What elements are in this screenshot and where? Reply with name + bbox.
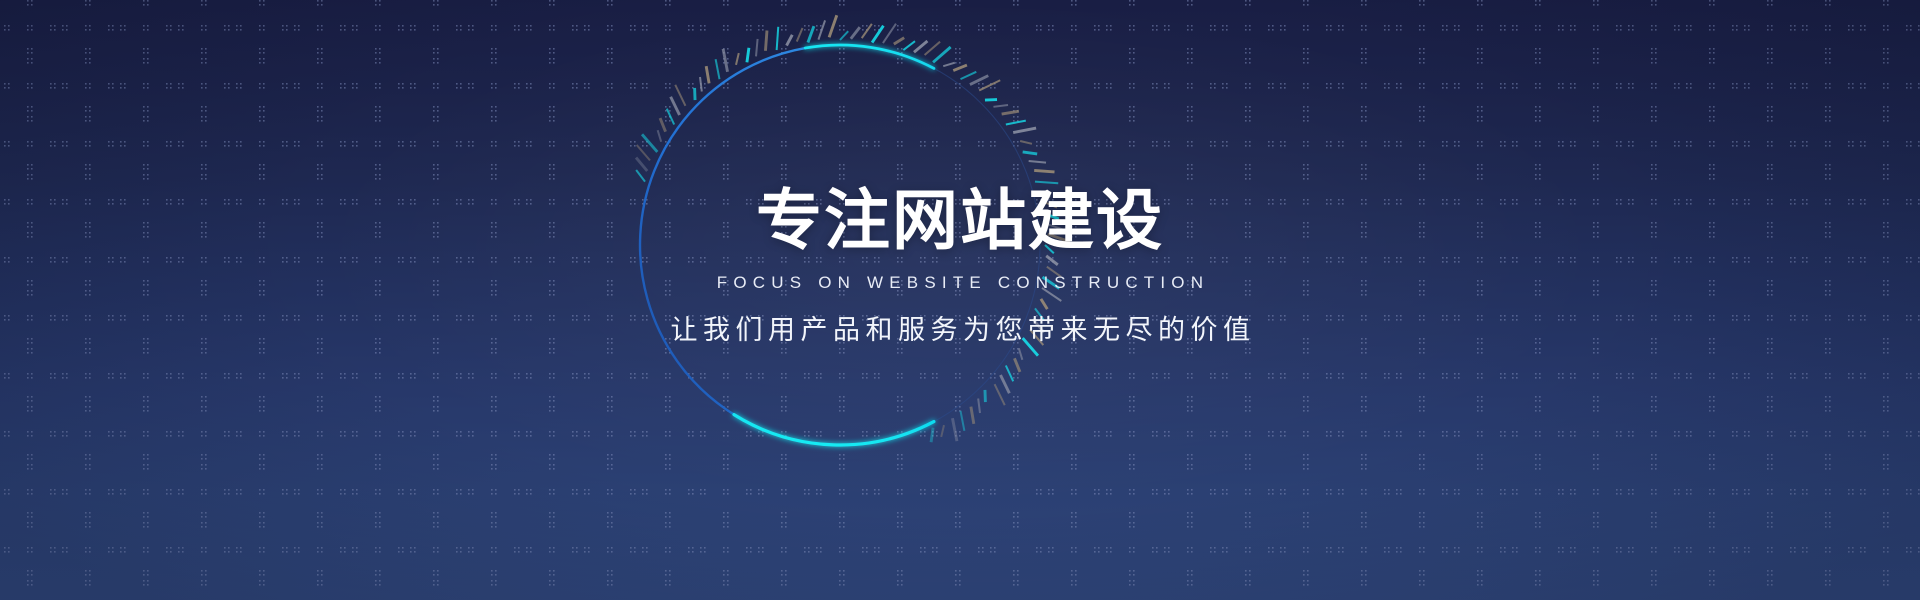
hero-tagline: 让我们用产品和服务为您带来无尽的价值 xyxy=(665,317,1256,344)
ring-base-circle xyxy=(640,45,1040,445)
ring-arc-cyan-top xyxy=(805,45,934,68)
vignette-overlay xyxy=(0,0,1920,600)
hero-banner: 专注网站建设 FOCUS ON WEBSITE CONSTRUCTION 让我们… xyxy=(0,0,1920,600)
dot-grid-pattern xyxy=(0,0,1920,600)
hero-copy-block: 专注网站建设 FOCUS ON WEBSITE CONSTRUCTION 让我们… xyxy=(0,0,1920,600)
ring-arc-blue xyxy=(640,48,805,437)
ring-tick-marks xyxy=(636,15,1070,442)
tech-ring-decoration xyxy=(640,45,1040,445)
hero-title: 专注网站建设 xyxy=(756,188,1164,254)
hero-subtitle-english: FOCUS ON WEBSITE CONSTRUCTION xyxy=(711,274,1209,291)
ring-arc-cyan-bottom xyxy=(734,415,934,445)
